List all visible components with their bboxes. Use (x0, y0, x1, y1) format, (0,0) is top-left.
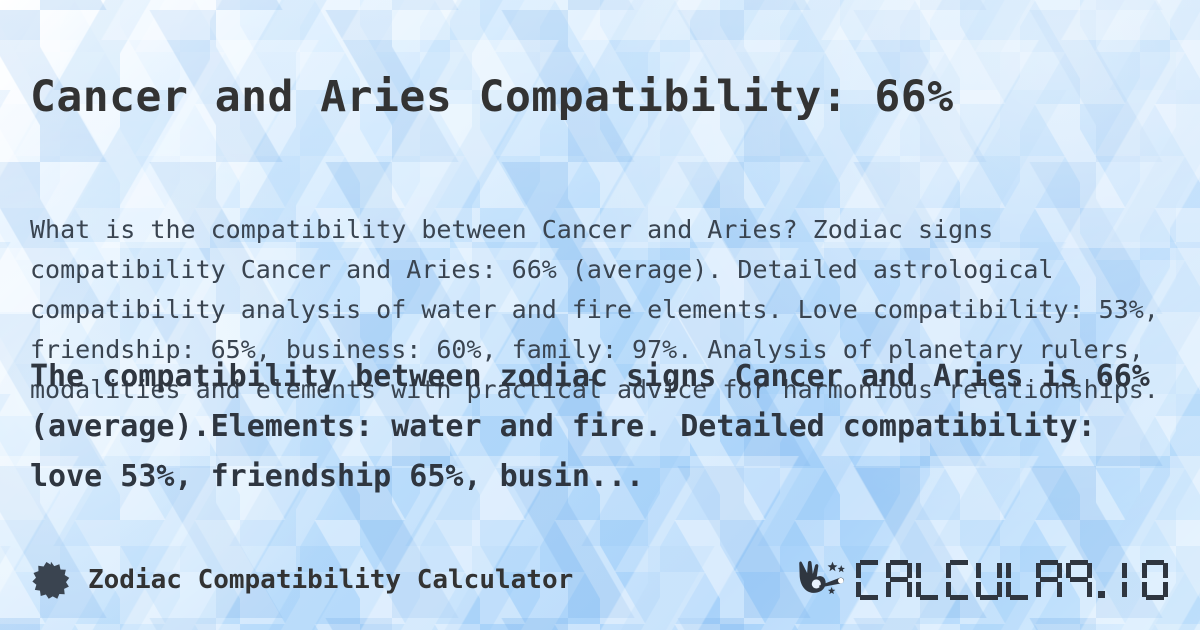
logo-segment-dot (1096, 560, 1108, 600)
hand-magic-wand-icon (794, 558, 850, 602)
logo-segment-l1 (916, 560, 942, 600)
logo-segment-u (976, 560, 1002, 600)
overlay-summary-text: The compatibility between zodiac signs C… (30, 352, 1170, 502)
page-title: Cancer and Aries Compatibility: 66% (30, 71, 1170, 123)
starburst-icon (32, 561, 70, 599)
logo-segment-a1 (886, 560, 912, 600)
logo-segment-c2 (946, 560, 972, 600)
brand-label: Zodiac Compatibility Calculator (88, 565, 573, 595)
logo-segment-c1 (856, 560, 882, 600)
brand-block: Zodiac Compatibility Calculator (32, 561, 573, 599)
logo-segment-t (1066, 560, 1092, 600)
card-footer: Zodiac Compatibility Calculator (0, 552, 1200, 608)
logo-segment-o (1142, 560, 1168, 600)
preview-card: Cancer and Aries Compatibility: 66% What… (0, 0, 1200, 630)
logo-segment-l2 (1006, 560, 1032, 600)
card-content: Cancer and Aries Compatibility: 66% What… (0, 0, 1200, 630)
calculatio-logo-text (856, 560, 1168, 600)
logo-segment-i (1112, 560, 1138, 600)
logo-block[interactable] (794, 558, 1168, 602)
logo-segment-a2 (1036, 560, 1062, 600)
